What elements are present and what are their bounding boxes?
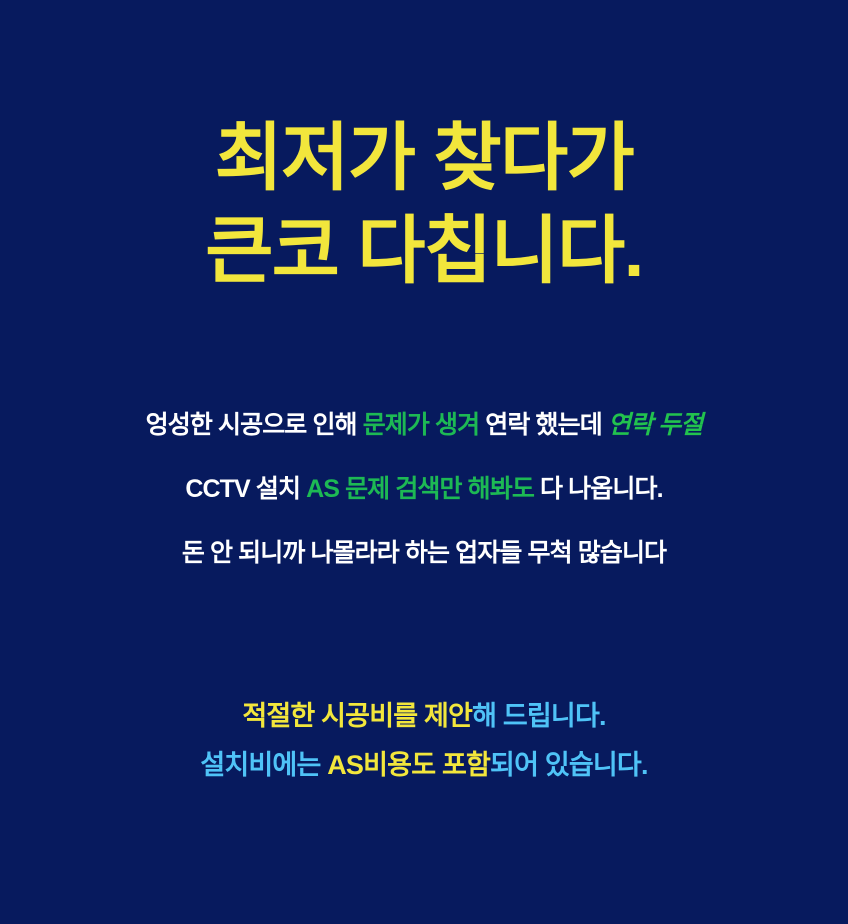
promo-poster: 최저가 찾다가 큰코 다칩니다. 엉성한 시공으로 인해 문제가 생겨 연락 했… (0, 0, 848, 924)
body-line-2-segment-3: 다 나옵니다. (534, 475, 663, 503)
footer-line-1-highlight-proposal: 적절한 시공비를 제안 (242, 701, 472, 731)
headline-line-2: 큰코 다칩니다. (0, 211, 848, 292)
body-line-3-segment-1: 돈 안 되니까 나몰라라 하는 업자들 무척 많습니다 (182, 539, 666, 567)
body-line-2-highlight-as-search: AS 문제 검색만 해봐도 (306, 475, 534, 503)
body-line-1-segment-1: 엉성한 시공으로 인해 (146, 411, 363, 439)
footer-line-1: 적절한 시공비를 제안해 드립니다. (0, 694, 848, 733)
body-line-2-segment-1: CCTV 설치 (185, 475, 306, 503)
body-line-2: CCTV 설치 AS 문제 검색만 해봐도 다 나옵니다. (0, 469, 848, 505)
body-line-1-segment-3: 연락 했는데 (479, 411, 608, 439)
body-line-1-highlight-problem: 문제가 생겨 (363, 411, 480, 439)
body-line-3: 돈 안 되니까 나몰라라 하는 업자들 무척 많습니다 (0, 533, 848, 569)
headline-block: 최저가 찾다가 큰코 다칩니다. (0, 118, 848, 291)
footer-line-2-highlight-as-included: AS비용도 포함 (327, 750, 490, 780)
footer-copy-block: 적절한 시공비를 제안해 드립니다. 설치비에는 AS비용도 포함되어 있습니다… (0, 694, 848, 782)
body-copy-block: 엉성한 시공으로 인해 문제가 생겨 연락 했는데 연락 두절 CCTV 설치 … (0, 405, 848, 569)
footer-line-1-segment-2: 해 드립니다. (472, 701, 606, 731)
body-line-1-highlight-no-contact: 연락 두절 (608, 411, 702, 439)
footer-line-2: 설치비에는 AS비용도 포함되어 있습니다. (0, 743, 848, 782)
headline-line-1: 최저가 찾다가 (0, 118, 848, 199)
footer-line-2-segment-1: 설치비에는 (200, 750, 327, 780)
footer-line-2-segment-3: 되어 있습니다. (490, 750, 648, 780)
body-line-1: 엉성한 시공으로 인해 문제가 생겨 연락 했는데 연락 두절 (0, 405, 848, 441)
